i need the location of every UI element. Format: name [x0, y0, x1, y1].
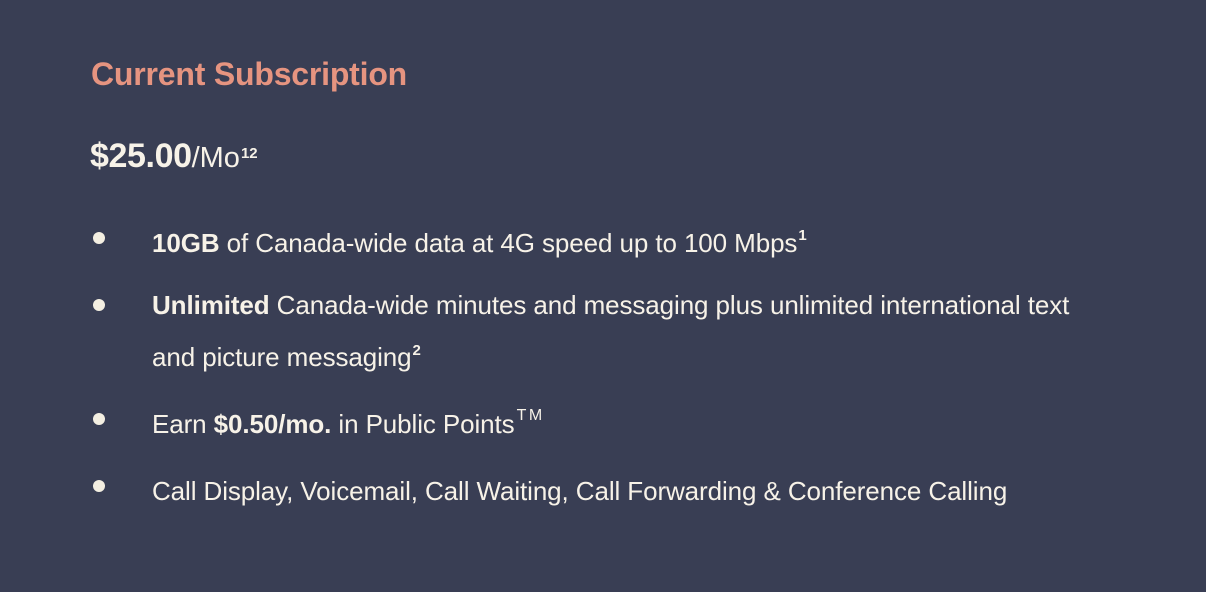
bullet-icon	[93, 299, 105, 311]
price-amount: $25.00	[90, 137, 192, 175]
list-item: 10GB of Canada-wide data at 4G speed up …	[0, 214, 1206, 267]
feature-emphasis: Unlimited	[152, 290, 270, 320]
feature-body: Canada-wide minutes and messaging plus u…	[152, 290, 1069, 373]
current-subscription-panel: Current Subscription $25.00/Mo12 10GB of…	[0, 0, 1206, 592]
feature-emphasis: 10GB	[152, 228, 220, 258]
feature-list: 10GB of Canada-wide data at 4G speed up …	[0, 214, 1206, 529]
feature-body: of Canada-wide data at 4G speed up to 10…	[220, 228, 798, 258]
list-item-text: Unlimited Canada-wide minutes and messag…	[152, 290, 1069, 373]
page-title: Current Subscription	[91, 58, 407, 90]
price-display: $25.00/Mo12	[90, 139, 257, 173]
bullet-icon	[93, 480, 105, 492]
feature-body: in Public Points	[331, 409, 514, 439]
bullet-icon	[93, 232, 105, 244]
list-item-text: Call Display, Voicemail, Call Waiting, C…	[152, 476, 1007, 506]
list-item: Unlimited Canada-wide minutes and messag…	[0, 281, 1206, 382]
feature-body: Call Display, Voicemail, Call Waiting, C…	[152, 476, 1007, 506]
feature-emphasis: $0.50/mo.	[214, 409, 332, 439]
list-item-text: 10GB of Canada-wide data at 4G speed up …	[152, 228, 806, 258]
price-period: /Mo	[192, 142, 240, 174]
feature-lead: Earn	[152, 409, 214, 439]
list-item-text: Earn $0.50/mo. in Public PointsTM	[152, 409, 543, 439]
footnote-marker: 2	[413, 342, 421, 359]
footnote-marker: 1	[798, 227, 806, 244]
bullet-icon	[93, 413, 105, 425]
price-footnote-marker: 12	[241, 145, 258, 162]
list-item: Call Display, Voicemail, Call Waiting, C…	[0, 462, 1206, 515]
list-item: Earn $0.50/mo. in Public PointsTM	[0, 395, 1206, 448]
trademark-icon: TM	[517, 407, 545, 424]
